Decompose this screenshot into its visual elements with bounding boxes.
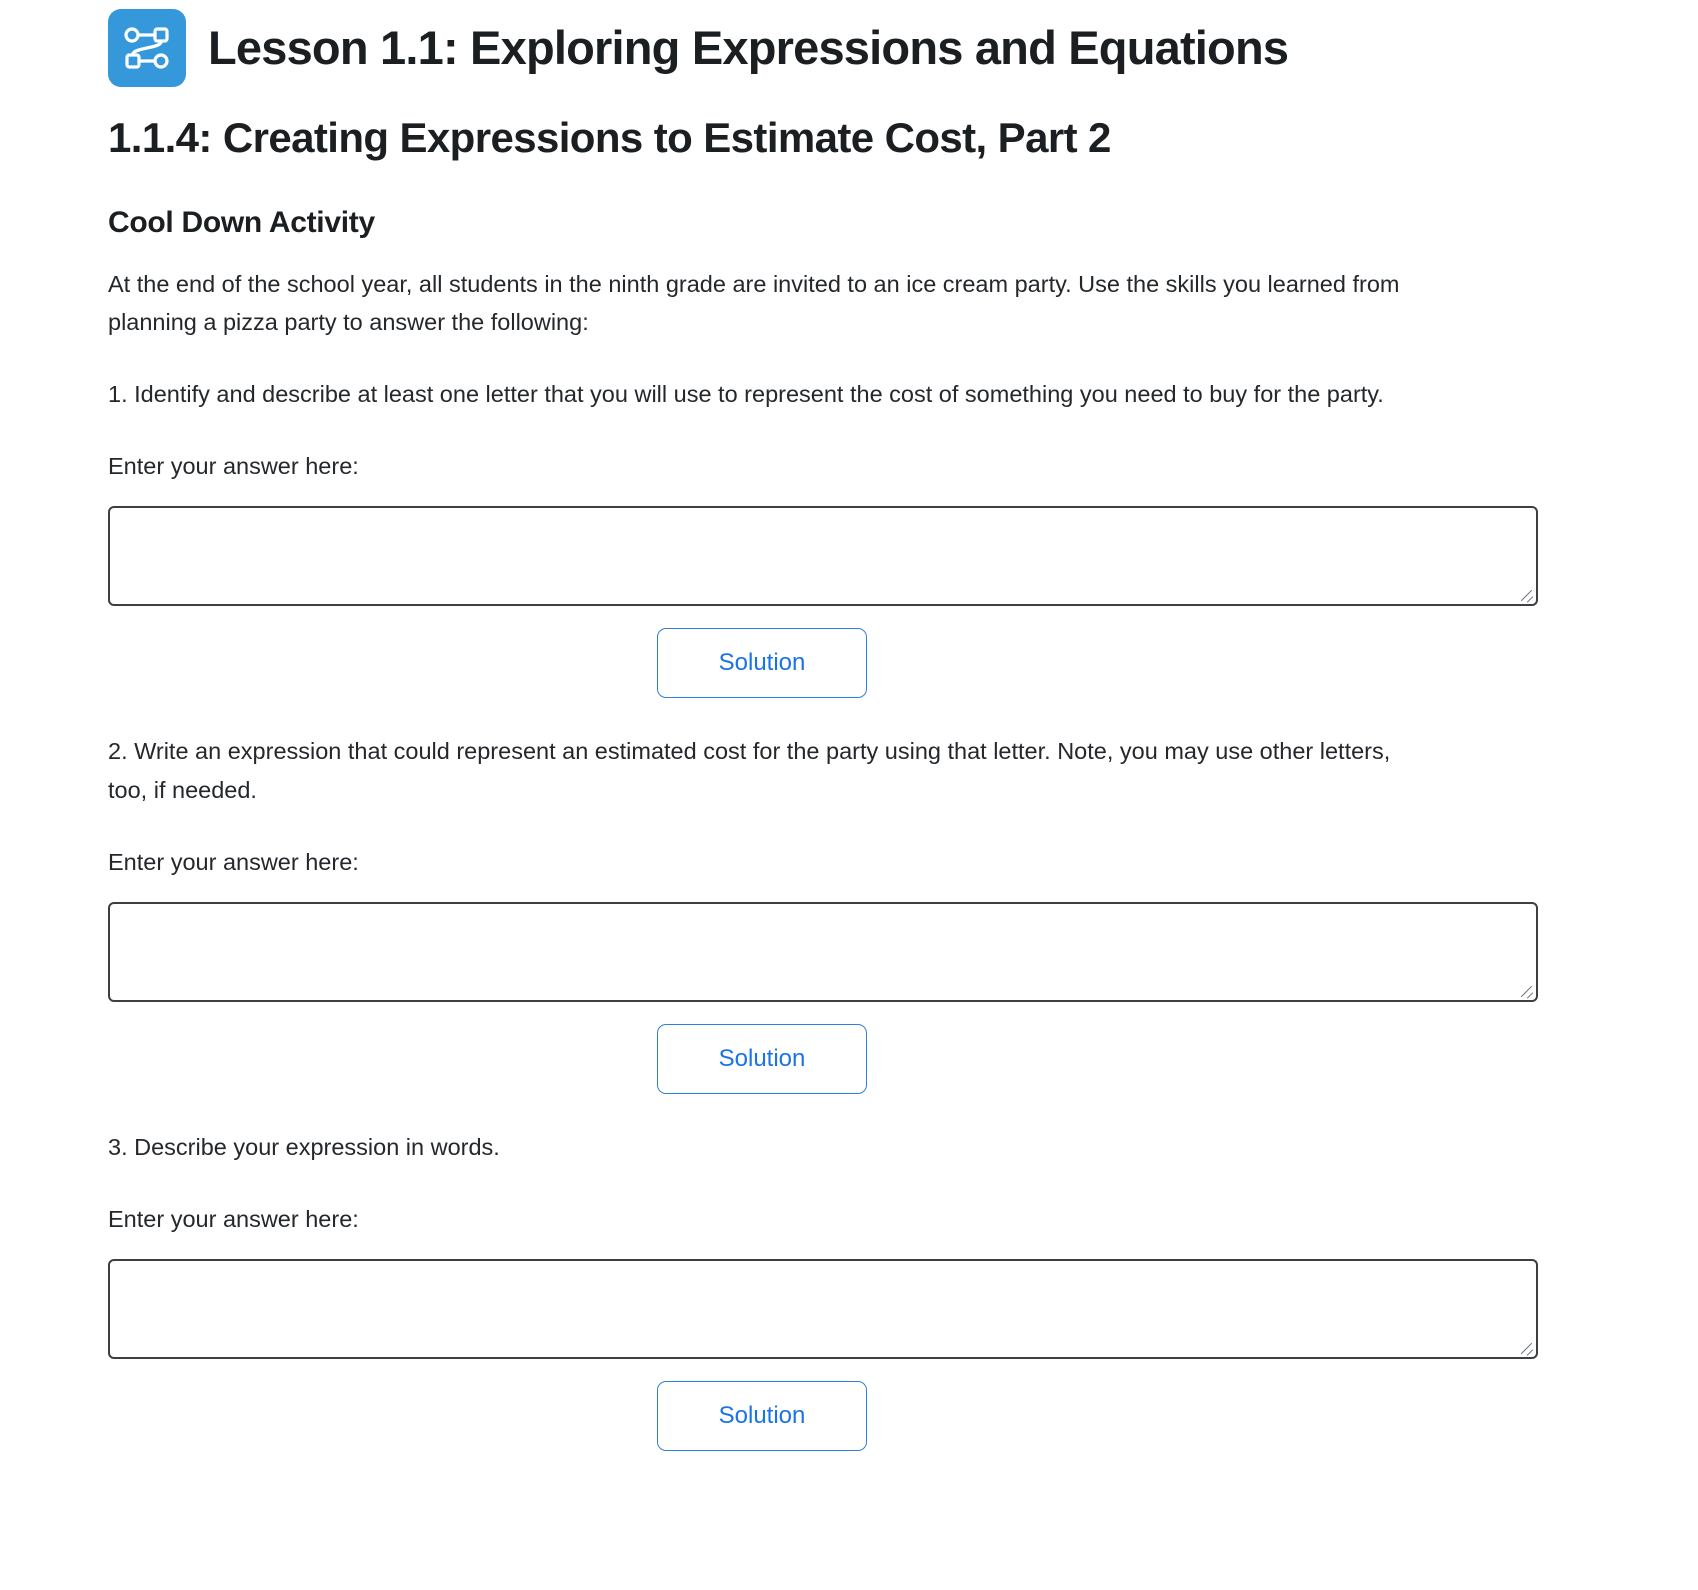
lesson-subtitle: 1.1.4: Creating Expressions to Estimate … (0, 114, 1698, 161)
answer-textarea-1[interactable] (108, 506, 1538, 606)
lesson-page: Lesson 1.1: Exploring Expressions and Eq… (0, 0, 1698, 1451)
solution-button-2[interactable]: Solution (657, 1024, 867, 1094)
solution-button-3[interactable]: Solution (657, 1381, 867, 1451)
page-title: Lesson 1.1: Exploring Expressions and Eq… (208, 23, 1288, 72)
answer-input-wrapper-2 (108, 902, 1538, 1002)
question-block-1: 1. Identify and describe at least one le… (108, 375, 1422, 698)
question-block-2: 2. Write an expression that could repres… (108, 732, 1422, 1093)
solution-button-1[interactable]: Solution (657, 628, 867, 698)
answer-input-wrapper-3 (108, 1259, 1538, 1359)
answer-textarea-3[interactable] (108, 1259, 1538, 1359)
answer-input-wrapper-1 (108, 506, 1538, 606)
lesson-header: Lesson 1.1: Exploring Expressions and Eq… (0, 0, 1698, 92)
answer-label-3: Enter your answer here: (108, 1202, 1422, 1237)
answer-label-1: Enter your answer here: (108, 449, 1422, 484)
question-prompt-1: 1. Identify and describe at least one le… (108, 375, 1422, 413)
question-block-3: 3. Describe your expression in words. En… (108, 1128, 1422, 1451)
solution-row-1: Solution (108, 628, 1422, 698)
solution-row-3: Solution (108, 1381, 1422, 1451)
answer-label-2: Enter your answer here: (108, 845, 1422, 880)
lesson-content: At the end of the school year, all stude… (0, 265, 1530, 1451)
flow-graph-icon (108, 9, 186, 87)
intro-paragraph: At the end of the school year, all stude… (108, 265, 1422, 341)
question-prompt-2: 2. Write an expression that could repres… (108, 732, 1422, 808)
answer-textarea-2[interactable] (108, 902, 1538, 1002)
question-prompt-3: 3. Describe your expression in words. (108, 1128, 1422, 1166)
section-heading: Cool Down Activity (0, 205, 1698, 241)
solution-row-2: Solution (108, 1024, 1422, 1094)
